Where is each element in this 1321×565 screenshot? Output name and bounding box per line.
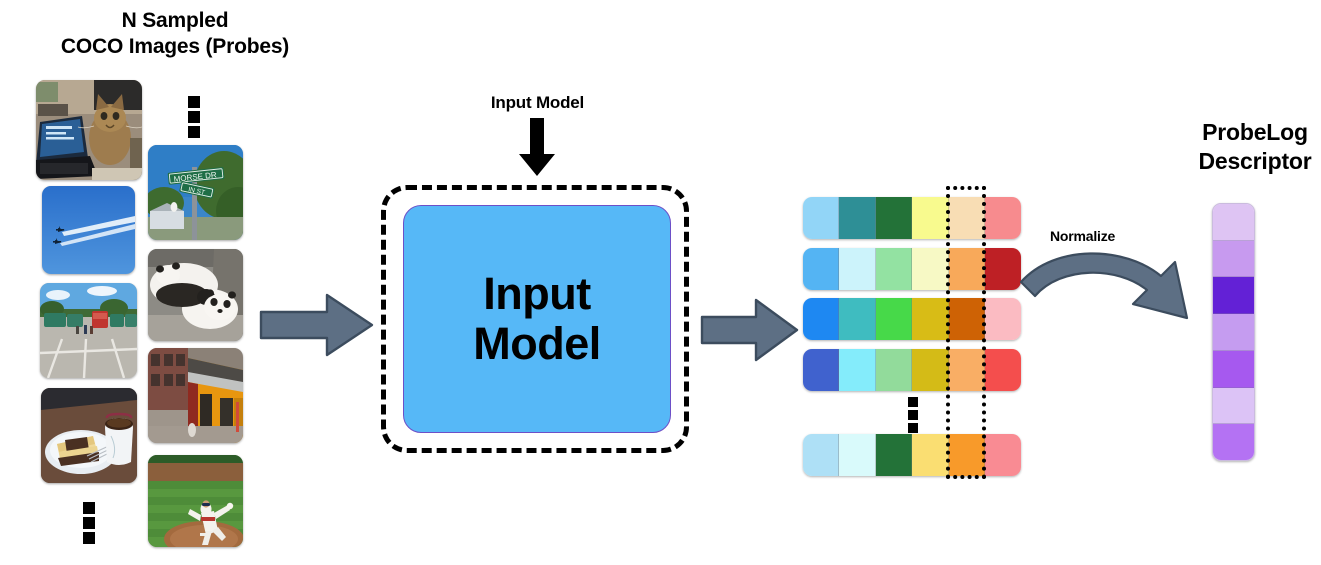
logit-cell bbox=[803, 248, 839, 290]
logit-row[interactable] bbox=[803, 349, 1021, 391]
logit-cell bbox=[839, 197, 875, 239]
input-model-line1: Input bbox=[483, 269, 590, 319]
probelog-descriptor-heading: ProbeLog Descriptor bbox=[1130, 118, 1321, 176]
logit-cell bbox=[839, 434, 875, 476]
logit-cell bbox=[803, 197, 839, 239]
logit-row[interactable] bbox=[803, 298, 1021, 340]
probe-ellipsis-bottom bbox=[83, 502, 95, 544]
probe-image-street-sign: MORSE DR IN ST bbox=[148, 145, 243, 240]
descriptor-cell bbox=[1213, 388, 1254, 425]
logit-cell bbox=[876, 248, 912, 290]
logit-cell bbox=[912, 248, 948, 290]
probes-heading: N Sampled COCO Images (Probes) bbox=[0, 8, 350, 61]
probe-image-storefront bbox=[148, 348, 243, 443]
logit-cell bbox=[839, 298, 875, 340]
down-arrow-icon bbox=[517, 118, 557, 178]
logit-cell bbox=[803, 434, 839, 476]
logit-rows-ellipsis bbox=[908, 397, 918, 433]
logit-cell-selected bbox=[949, 197, 985, 239]
descriptor-cell bbox=[1213, 277, 1254, 314]
logit-cell bbox=[912, 434, 948, 476]
descriptor-cell bbox=[1213, 351, 1254, 388]
logit-cell bbox=[839, 349, 875, 391]
probe-image-cat-laptop bbox=[36, 80, 142, 180]
probe-image-planes-sky bbox=[42, 186, 135, 274]
logit-cell-selected bbox=[949, 248, 985, 290]
logit-cell bbox=[985, 349, 1021, 391]
logit-cell bbox=[803, 349, 839, 391]
logit-cell-selected bbox=[949, 349, 985, 391]
normalize-label: Normalize bbox=[1050, 228, 1170, 246]
descriptor-cell bbox=[1213, 204, 1254, 241]
logit-cell bbox=[912, 197, 948, 239]
probe-image-pandas bbox=[148, 249, 243, 341]
input-model-caption: Input Model bbox=[440, 92, 635, 113]
logit-cell bbox=[876, 434, 912, 476]
arrow-model-to-logits bbox=[700, 295, 800, 365]
logit-row[interactable] bbox=[803, 434, 1021, 476]
probelog-descriptor-column[interactable] bbox=[1212, 203, 1255, 461]
descriptor-cell bbox=[1213, 314, 1254, 351]
descriptor-cell bbox=[1213, 241, 1254, 278]
probe-image-baseball bbox=[148, 455, 243, 547]
input-model-box[interactable]: Input Model bbox=[403, 205, 671, 433]
logit-cell-selected bbox=[949, 298, 985, 340]
probe-image-buses bbox=[40, 283, 137, 378]
logit-cell-selected bbox=[949, 434, 985, 476]
logit-cell bbox=[876, 197, 912, 239]
normalize-arrow bbox=[1015, 240, 1215, 330]
logit-cell bbox=[803, 298, 839, 340]
logit-row[interactable] bbox=[803, 197, 1021, 239]
logit-cell bbox=[876, 298, 912, 340]
arrow-probes-to-model bbox=[259, 290, 375, 360]
logit-cell bbox=[912, 349, 948, 391]
logit-row[interactable] bbox=[803, 248, 1021, 290]
input-model-line2: Model bbox=[473, 319, 601, 369]
logit-cell bbox=[985, 197, 1021, 239]
diagram-canvas: N Sampled COCO Images (Probes) bbox=[0, 0, 1321, 565]
probe-ellipsis-top bbox=[188, 96, 200, 138]
probe-image-cake-coffee bbox=[41, 388, 137, 483]
logit-cell bbox=[985, 434, 1021, 476]
descriptor-cell bbox=[1213, 424, 1254, 460]
logit-cell bbox=[839, 248, 875, 290]
logit-cell bbox=[912, 298, 948, 340]
logit-cell bbox=[876, 349, 912, 391]
